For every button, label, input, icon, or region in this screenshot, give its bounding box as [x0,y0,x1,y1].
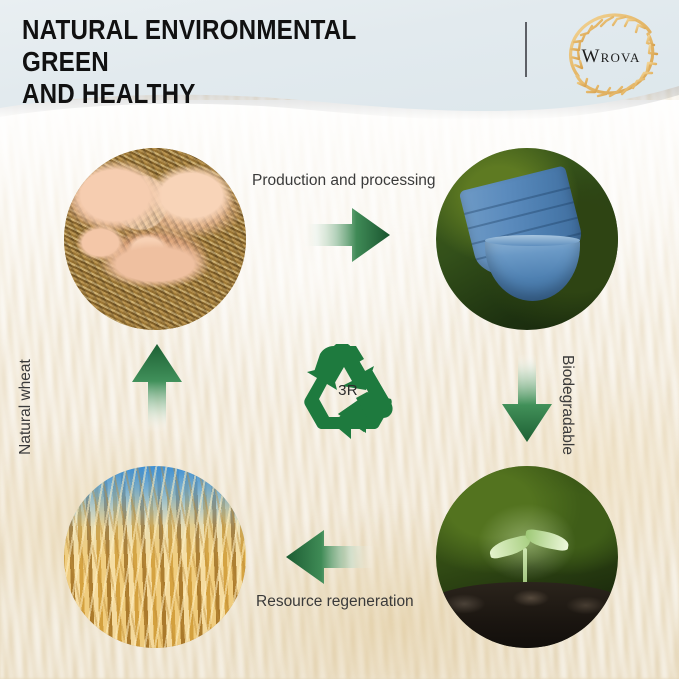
page-title: NATURAL ENVIRONMENTAL GREEN AND HEALTHY [22,14,444,110]
header-banner: NATURAL ENVIRONMENTAL GREEN AND HEALTHY [0,0,679,128]
arrow-right-production [300,206,392,264]
recycle-label: 3R [296,382,400,399]
hands-shape [64,148,246,330]
photo-blue-bowls [436,148,618,330]
caption-production-and-processing: Production and processing [252,172,436,190]
brand-name: Wrova [552,46,670,68]
bowl-front [485,239,580,301]
arrow-down-biodegradable [498,352,556,444]
recycle-badge: 3R [296,344,400,444]
photo-wheat-field [64,466,246,648]
soil [436,582,618,648]
product-infographic: NATURAL ENVIRONMENTAL GREEN AND HEALTHY [0,0,679,679]
wheat-awns [64,466,246,648]
caption-resource-regeneration: Resource regeneration [256,593,414,611]
arrow-up-natural-wheat [128,338,186,434]
header-divider [525,22,527,77]
caption-biodegradable: Biodegradable [558,345,576,465]
caption-natural-wheat: Natural wheat [17,347,35,467]
arrow-left-regeneration [284,528,376,586]
photo-seedling [436,466,618,648]
brand-logo: Wrova [552,6,670,106]
photo-hands-with-grain [64,148,246,330]
